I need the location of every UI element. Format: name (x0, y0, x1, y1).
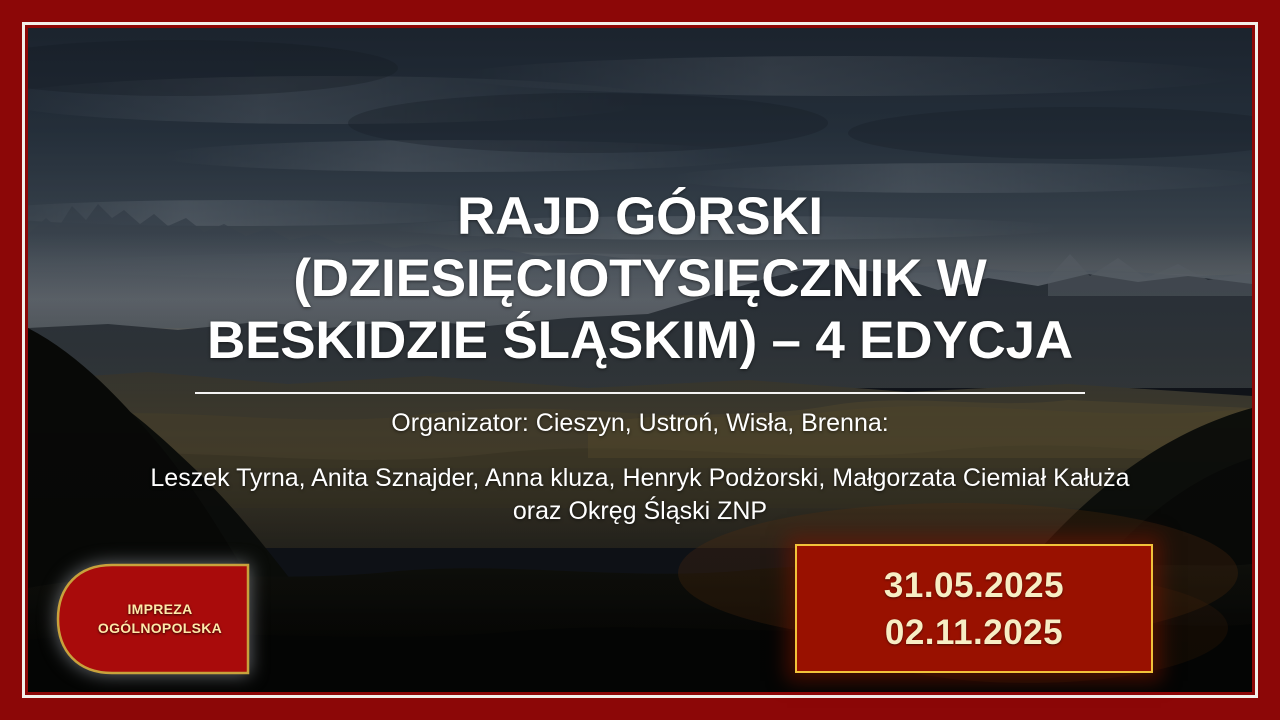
slide-root: RAJD GÓRSKI (DZIESIĘCIOTYSIĘCZNIK W BESK… (0, 0, 1280, 720)
event-dates-box: 31.05.2025 02.11.2025 (795, 544, 1153, 673)
subtitle-block: Organizator: Cieszyn, Ustroń, Wisła, Bre… (110, 406, 1170, 528)
nationwide-event-badge: IMPREZA OGÓLNOPOLSKA (56, 563, 250, 675)
title-underline (195, 392, 1085, 394)
event-date-1: 31.05.2025 (884, 562, 1064, 609)
page-title: RAJD GÓRSKI (DZIESIĘCIOTYSIĘCZNIK W BESK… (110, 186, 1170, 372)
organizer-names-line-1: Leszek Tyrna, Anita Sznajder, Anna kluza… (110, 462, 1170, 495)
organizer-names: Leszek Tyrna, Anita Sznajder, Anna kluza… (110, 462, 1170, 528)
event-date-2: 02.11.2025 (885, 609, 1063, 656)
organizer-line: Organizator: Cieszyn, Ustroń, Wisła, Bre… (110, 406, 1170, 440)
title-block: RAJD GÓRSKI (DZIESIĘCIOTYSIĘCZNIK W BESK… (110, 186, 1170, 372)
organizer-names-line-2: oraz Okręg Śląski ZNP (110, 495, 1170, 528)
badge-shape-icon (56, 563, 250, 675)
